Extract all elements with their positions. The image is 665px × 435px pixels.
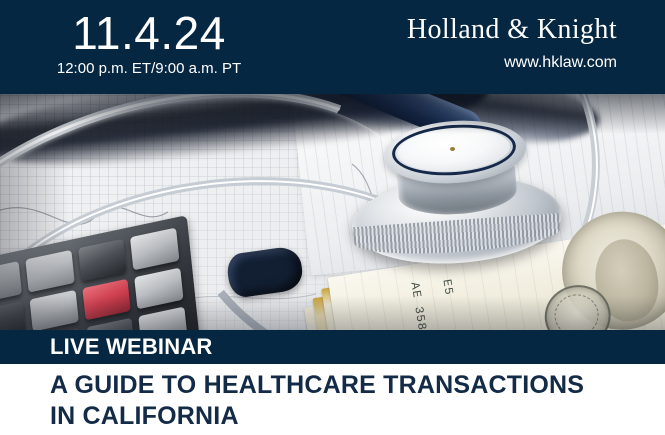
webinar-title: A GUIDE TO HEALTHCARE TRANSACTIONS IN CA… [50, 370, 650, 432]
calculator-key [130, 228, 179, 270]
calculator-key [78, 239, 127, 281]
calculator-key [0, 261, 22, 303]
event-date: 11.4.24 [34, 8, 264, 58]
event-date-block: 11.4.24 12:00 p.m. ET/9:00 a.m. PT [34, 8, 264, 79]
banknote-serial-number: AE 35895491B [407, 281, 436, 330]
webinar-promo-graphic: 11.4.24 12:00 p.m. ET/9:00 a.m. PT Holla… [0, 0, 665, 435]
event-time: 12:00 p.m. ET/9:00 a.m. PT [34, 59, 264, 79]
header-band: 11.4.24 12:00 p.m. ET/9:00 a.m. PT Holla… [0, 0, 665, 94]
webinar-title-line-2: IN CALIFORNIA [50, 401, 650, 432]
brand-block: Holland & Knight www.hklaw.com [407, 14, 617, 74]
webinar-title-line-1: A GUIDE TO HEALTHCARE TRANSACTIONS [50, 370, 650, 401]
firm-website-url[interactable]: www.hklaw.com [407, 52, 617, 74]
hero-photograph: AE 35895491B E5 [0, 94, 665, 330]
calculator-key [86, 318, 135, 330]
live-webinar-label: LIVE WEBINAR [50, 334, 213, 360]
calculator-key [29, 290, 78, 330]
calculator-key [82, 278, 131, 320]
calculator-key [0, 301, 26, 330]
calculator-key [139, 307, 188, 330]
live-webinar-bar: LIVE WEBINAR [0, 330, 665, 364]
firm-logo-wordmark: Holland & Knight [407, 14, 617, 46]
banknote-serial-suffix: E5 [439, 278, 455, 296]
calculator-key [25, 250, 74, 292]
stethoscope-diaphragm-dot [450, 147, 455, 151]
calculator-key [134, 267, 183, 309]
